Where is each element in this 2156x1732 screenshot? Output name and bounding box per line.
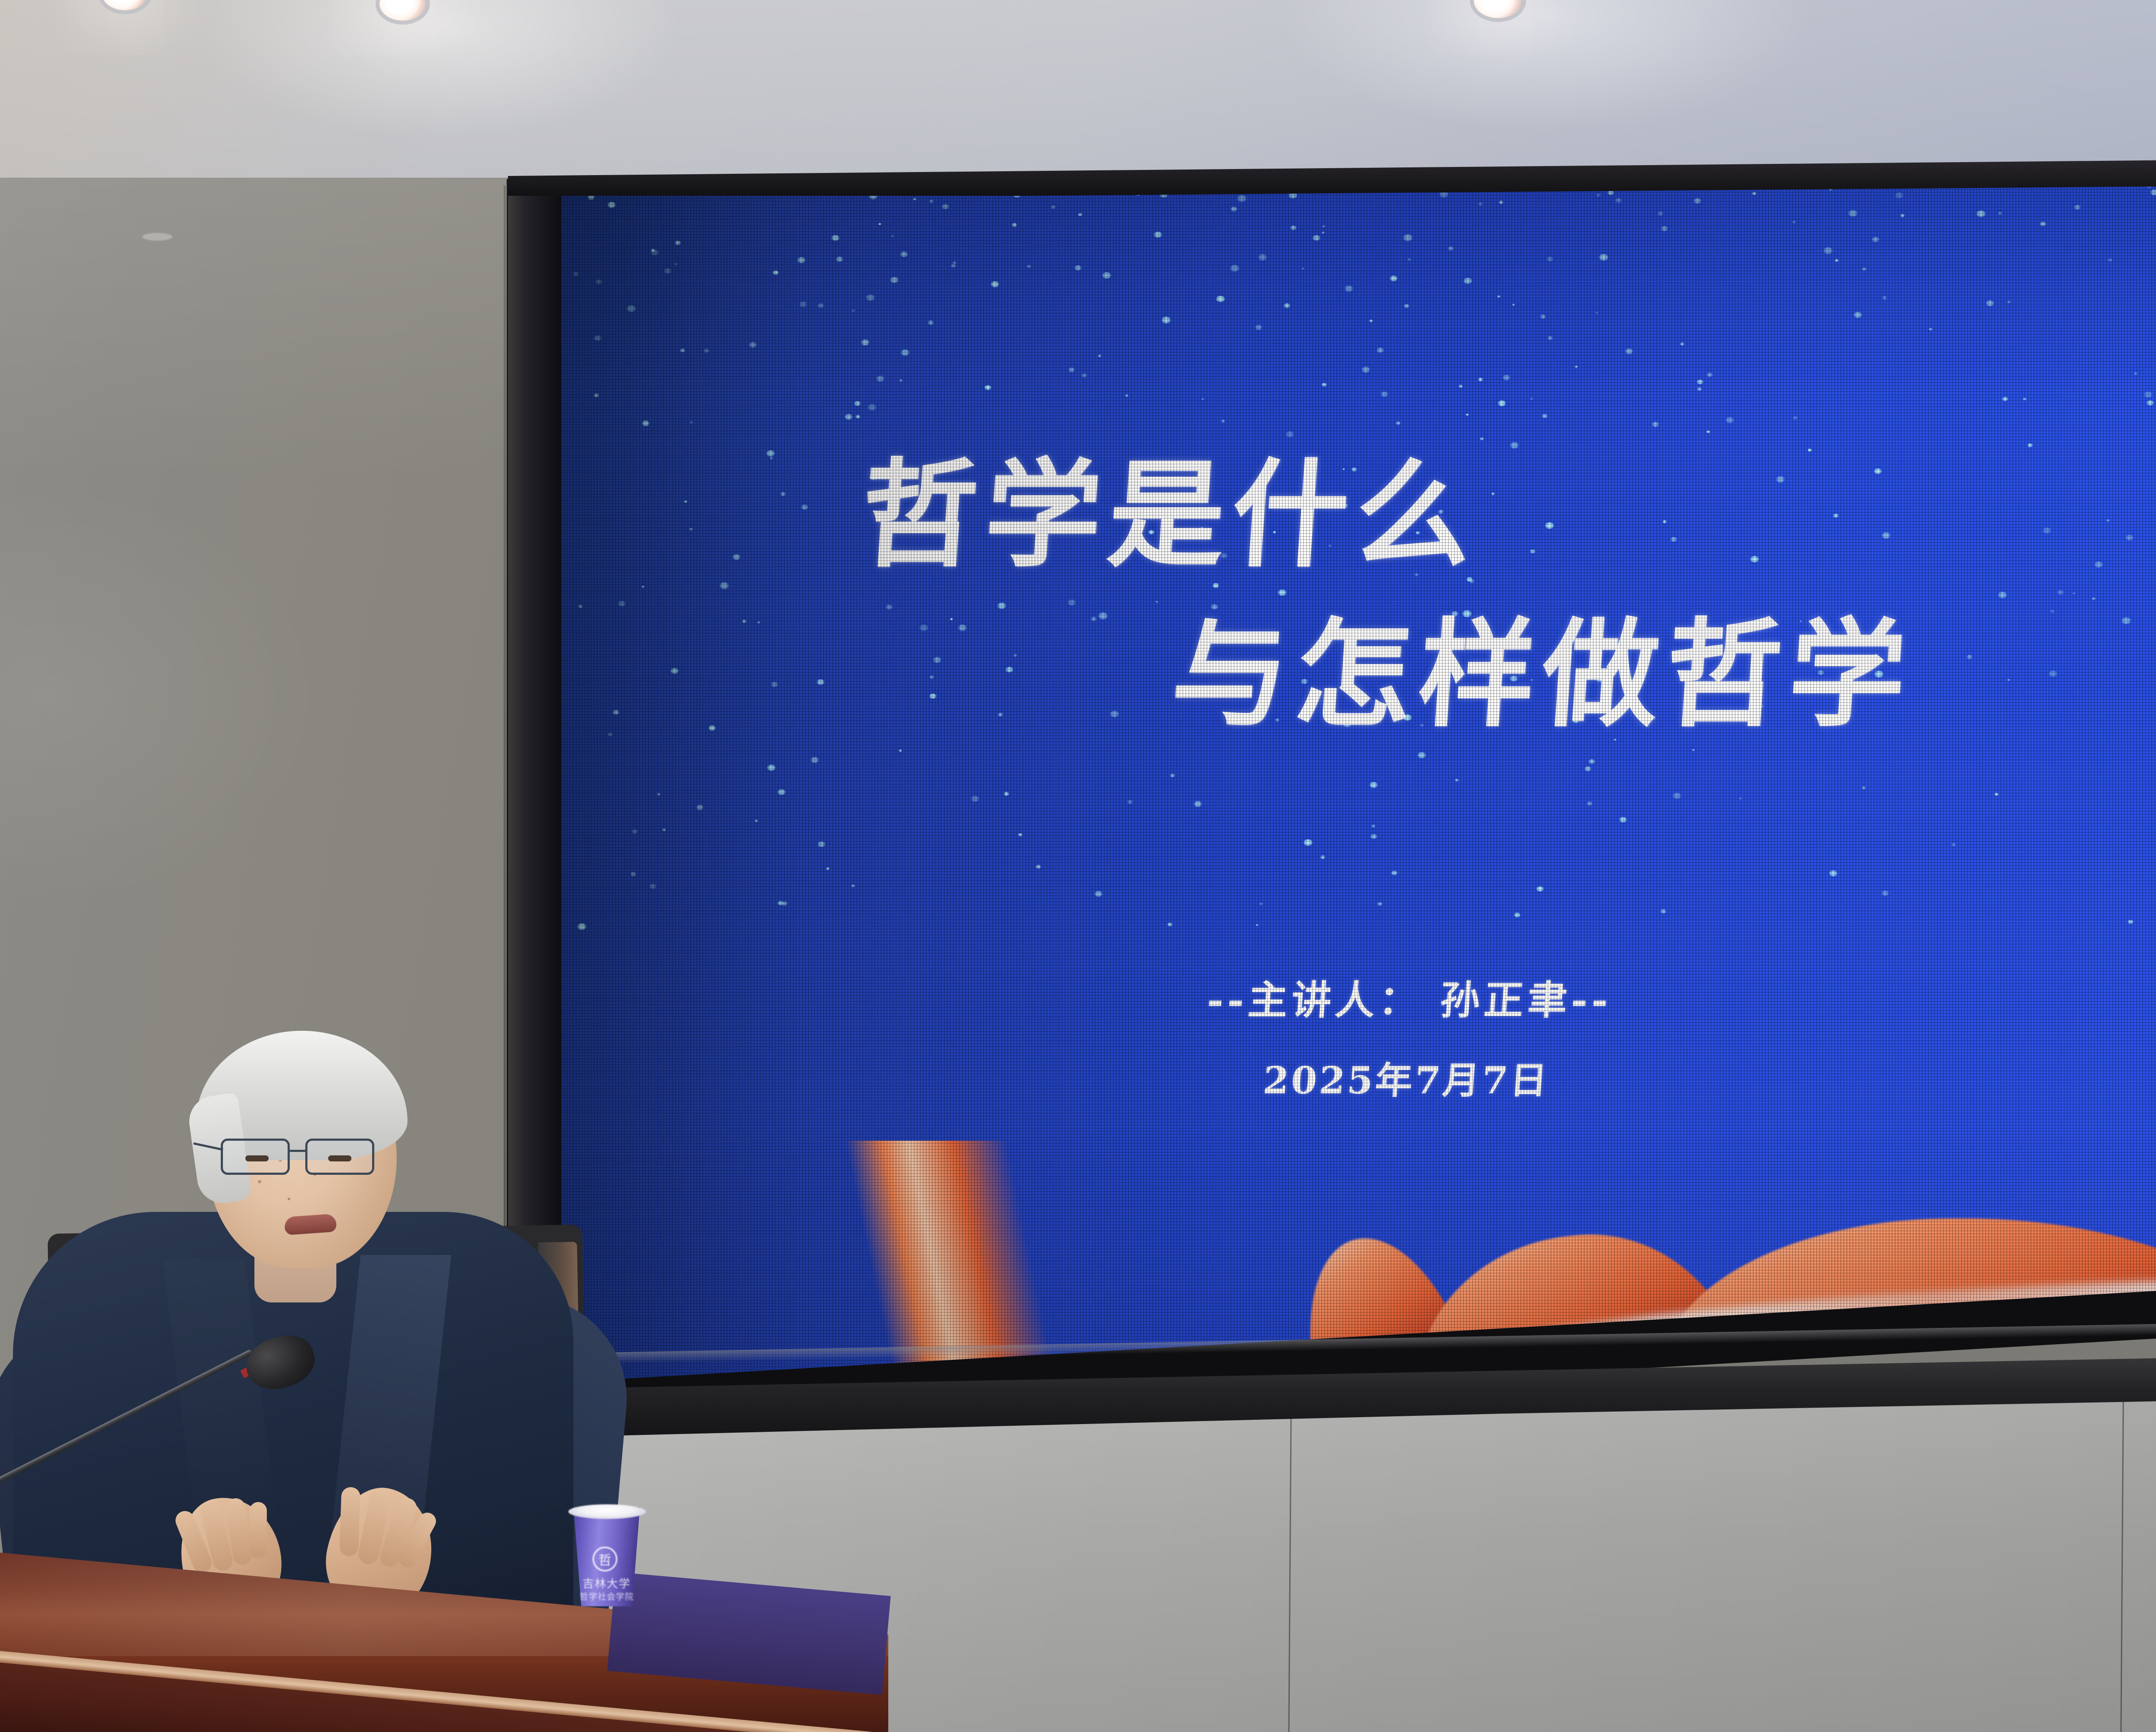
mouth xyxy=(284,1214,337,1235)
left-wall-highlight xyxy=(0,178,508,480)
lecturer-figure xyxy=(0,1026,638,1630)
slide-title-line-2: 与怎样做哲学 xyxy=(1167,580,1919,749)
paper-cup-university-label: 吉林大学 xyxy=(576,1575,637,1591)
slide-content: 哲学是什么 与怎样做哲学 --主讲人： 孙正聿-- 2025年7月7日 xyxy=(561,179,2156,1382)
ceiling-downlight-icon xyxy=(379,0,426,21)
lecture-hall-scene: 哲学是什么 与怎样做哲学 --主讲人： 孙正聿-- 2025年7月7日 xyxy=(0,0,2156,1732)
paper-cup-rim xyxy=(568,1504,646,1519)
paper-cup-department-label: 哲学社会学院 xyxy=(573,1590,640,1602)
led-screen: 哲学是什么 与怎样做哲学 --主讲人： 孙正聿-- 2025年7月7日 xyxy=(561,179,2156,1382)
university-seal-icon: 哲 xyxy=(592,1547,617,1572)
slide-date-line: 2025年7月7日 xyxy=(1262,1050,1551,1104)
slide-title-line-1: 哲学是什么 xyxy=(856,420,1485,589)
wall-smudge xyxy=(142,233,172,241)
eyeglasses-icon xyxy=(221,1139,393,1175)
slide-presenter-line: --主讲人： 孙正聿-- xyxy=(1205,968,1614,1026)
ceiling-downlight-icon xyxy=(102,0,148,10)
ceiling-downlight-icon xyxy=(1474,0,1522,18)
